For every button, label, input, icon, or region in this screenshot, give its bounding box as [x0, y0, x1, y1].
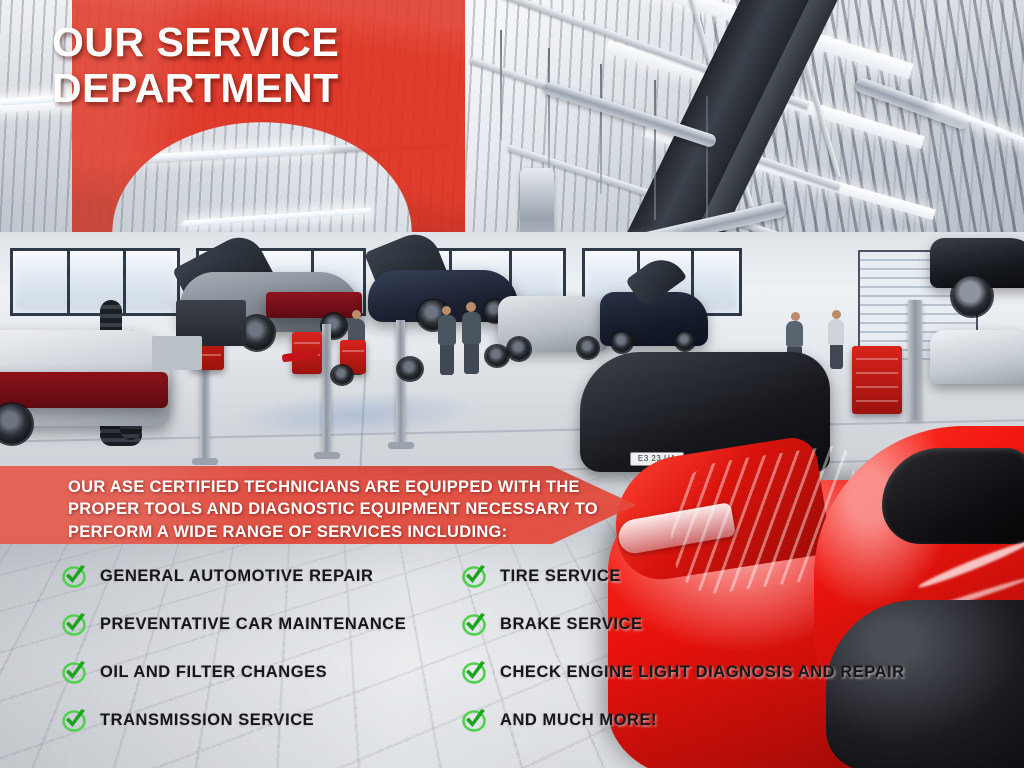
green-check-icon	[62, 708, 88, 732]
loose-tire	[486, 346, 508, 366]
service-item: OIL AND FILTER CHANGES	[62, 648, 462, 696]
service-label: CHECK ENGINE LIGHT DIAGNOSIS AND REPAIR	[500, 663, 905, 682]
page-title: OUR SERVICE DEPARTMENT	[52, 20, 382, 112]
services-checklist: GENERAL AUTOMOTIVE REPAIR PREVENTATIVE C…	[0, 552, 1024, 752]
loose-tire	[398, 358, 422, 380]
info-line-3: PERFORM A WIDE RANGE OF SERVICES INCLUDI…	[68, 521, 608, 543]
window-band	[10, 248, 180, 316]
info-line-2: PROPER TOOLS AND DIAGNOSTIC EQUIPMENT NE…	[68, 498, 608, 520]
hanger-rod	[548, 48, 550, 168]
service-label: AND MUCH MORE!	[500, 711, 657, 730]
hanger-rod	[500, 30, 502, 140]
service-item: TIRE SERVICE	[462, 552, 1002, 600]
green-check-icon	[62, 564, 88, 588]
equipment-cart	[152, 336, 202, 370]
services-column-right: TIRE SERVICE BRAKE SERVICE	[462, 552, 1002, 744]
services-column-left: GENERAL AUTOMOTIVE REPAIR PREVENTATIVE C…	[62, 552, 462, 744]
service-label: BRAKE SERVICE	[500, 615, 643, 634]
green-check-icon	[462, 612, 488, 636]
green-check-icon	[62, 612, 88, 636]
hanger-rod	[654, 80, 656, 220]
green-check-icon	[462, 660, 488, 684]
service-label: OIL AND FILTER CHANGES	[100, 663, 327, 682]
service-label: PREVENTATIVE CAR MAINTENANCE	[100, 615, 406, 634]
service-item: CHECK ENGINE LIGHT DIAGNOSIS AND REPAIR	[462, 648, 1002, 696]
service-label: GENERAL AUTOMOTIVE REPAIR	[100, 567, 374, 586]
green-check-icon	[462, 708, 488, 732]
info-banner-text: OUR ASE CERTIFIED TECHNICIANS ARE EQUIPP…	[68, 476, 608, 543]
service-department-poster: E3 23 UA OUR SERVICE DEPARTMENT OUR ASE …	[0, 0, 1024, 768]
hanger-rod	[706, 96, 708, 226]
page-title-line1: OUR SERVICE	[52, 19, 339, 65]
page-title-line2: DEPARTMENT	[52, 66, 382, 112]
service-item: GENERAL AUTOMOTIVE REPAIR	[62, 552, 462, 600]
service-label: TRANSMISSION SERVICE	[100, 711, 314, 730]
service-label: TIRE SERVICE	[500, 567, 621, 586]
green-check-icon	[62, 660, 88, 684]
green-check-icon	[462, 564, 488, 588]
service-item: PREVENTATIVE CAR MAINTENANCE	[62, 600, 462, 648]
service-item: TRANSMISSION SERVICE	[62, 696, 462, 744]
info-line-1: OUR ASE CERTIFIED TECHNICIANS ARE EQUIPP…	[68, 476, 608, 498]
wheel	[952, 276, 992, 316]
service-item: AND MUCH MORE!	[462, 696, 1002, 744]
hanger-rod	[600, 64, 602, 194]
red-car-rear-window	[882, 448, 1024, 544]
loose-tire	[332, 366, 352, 384]
wheel	[508, 338, 530, 360]
service-item: BRAKE SERVICE	[462, 600, 1002, 648]
